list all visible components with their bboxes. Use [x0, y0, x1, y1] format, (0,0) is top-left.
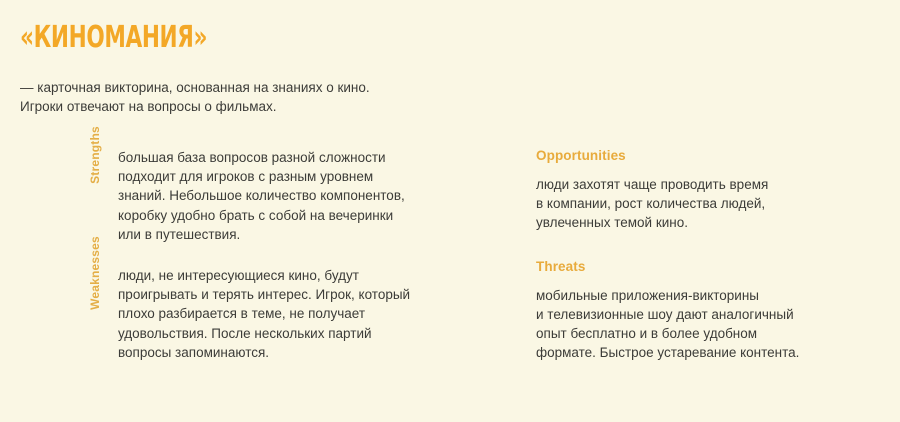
swot-label-strengths: Strengths [88, 126, 102, 184]
swot-block-strengths: Strengths большая база вопросов разной с… [86, 148, 466, 244]
swot-text-weaknesses: люди, не интересующиеся кино, будут прои… [118, 266, 466, 362]
swot-text-strengths: большая база вопросов разной сложности п… [118, 148, 466, 244]
swot-block-weaknesses: Weaknesses люди, не интересующиеся кино,… [86, 266, 466, 362]
slide-subtitle: — карточная викторина, основанная на зна… [20, 78, 540, 116]
swot-column-right: Opportunities люди захотят чаще проводит… [536, 148, 866, 388]
swot-label-opportunities: Opportunities [536, 148, 866, 163]
slide-header: «КИНОМАНИЯ» — карточная викторина, основ… [20, 22, 580, 116]
swot-block-opportunities: Opportunities люди захотят чаще проводит… [536, 148, 866, 233]
swot-slide: «КИНОМАНИЯ» — карточная викторина, основ… [0, 0, 900, 422]
swot-label-weaknesses: Weaknesses [88, 236, 102, 310]
swot-text-threats: мобильные приложения-викторины и телевиз… [536, 286, 866, 363]
swot-label-weaknesses-wrap: Weaknesses [86, 266, 104, 362]
swot-label-threats: Threats [536, 259, 866, 274]
swot-column-left: Strengths большая база вопросов разной с… [86, 148, 466, 384]
page-title: «КИНОМАНИЯ» [20, 22, 423, 54]
swot-text-opportunities: люди захотят чаще проводить время в комп… [536, 175, 866, 233]
swot-columns: Strengths большая база вопросов разной с… [0, 148, 900, 378]
swot-label-strengths-wrap: Strengths [86, 148, 104, 244]
swot-block-threats: Threats мобильные приложения-викторины и… [536, 259, 866, 363]
